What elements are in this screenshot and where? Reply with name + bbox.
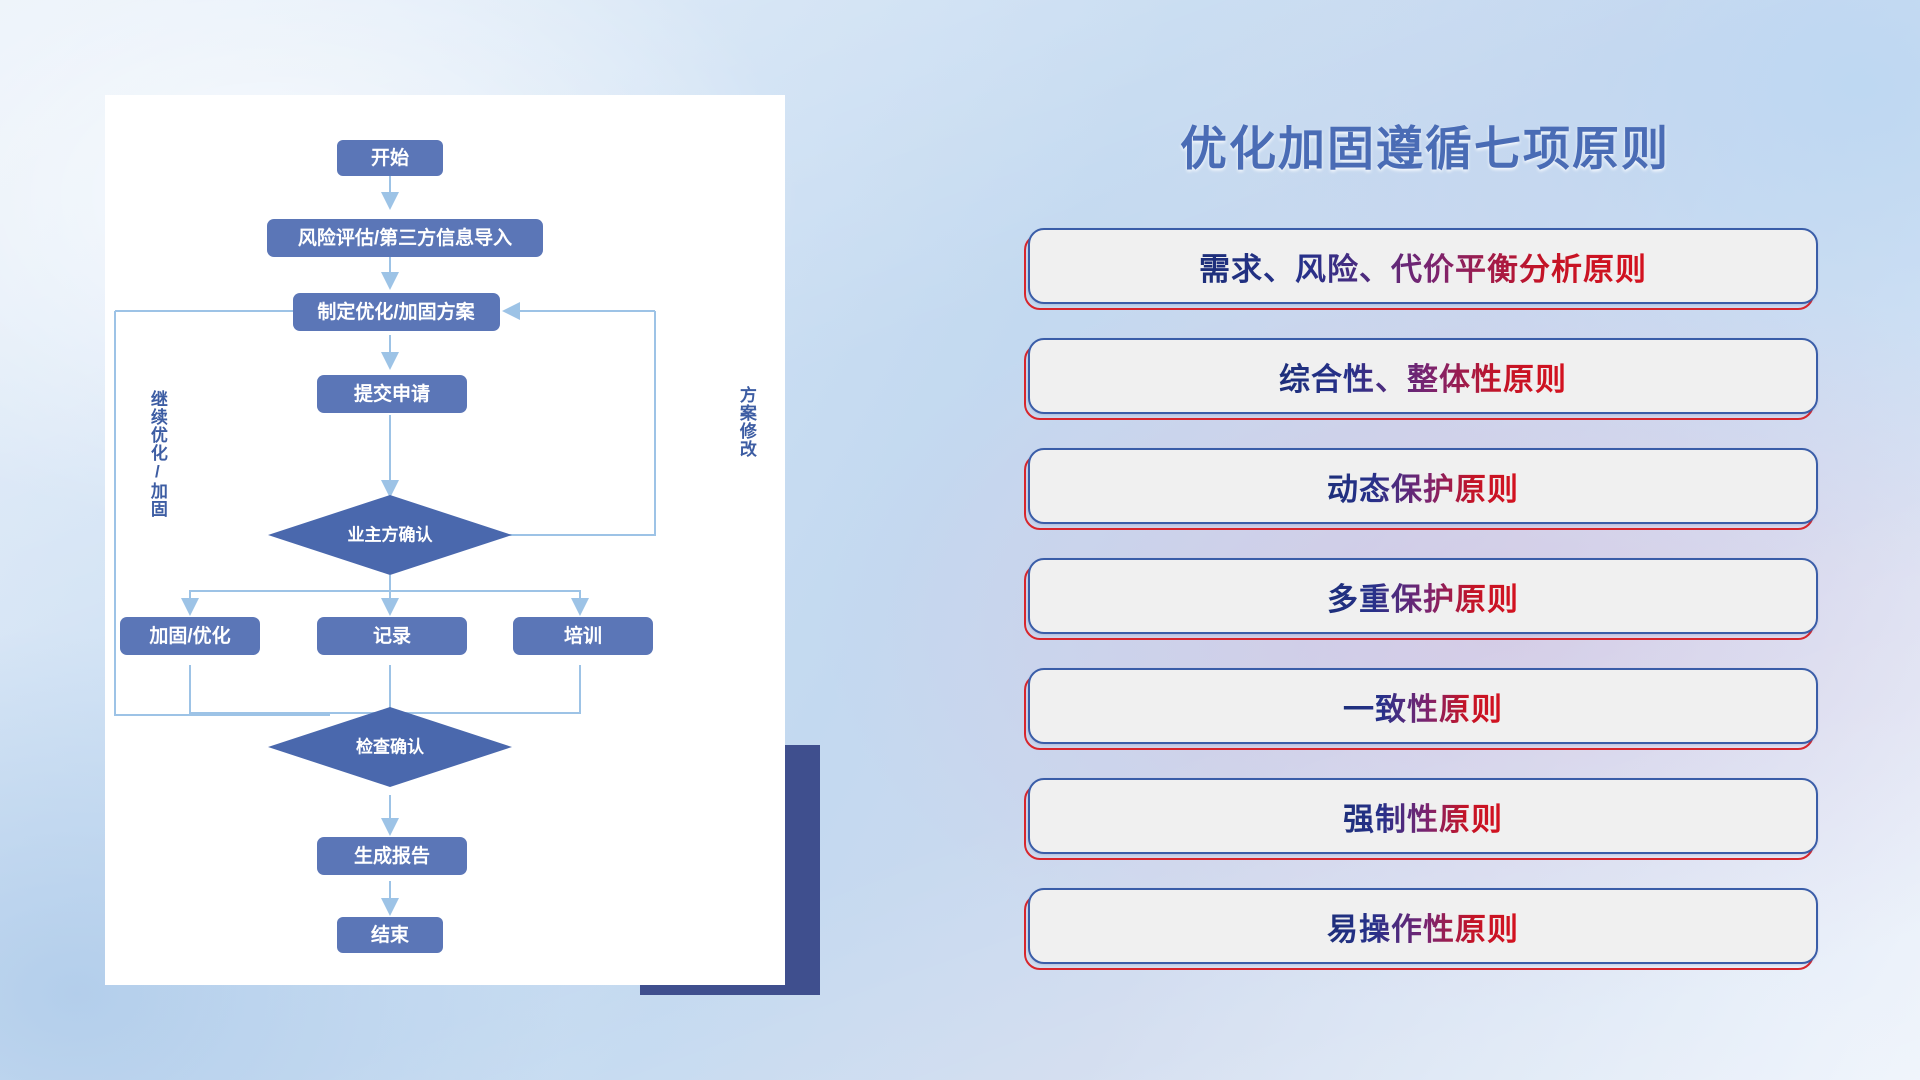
flow-node-owner-confirm[interactable]: 业主方确认 [268, 495, 512, 575]
flow-node-end[interactable]: 结束 [337, 917, 443, 953]
principle-box[interactable]: 需求、风险、代价平衡分析原则 [1028, 228, 1818, 304]
flow-node-record[interactable]: 记录 [317, 617, 467, 655]
flow-node-training[interactable]: 培训 [513, 617, 653, 655]
svg-text:生成报告: 生成报告 [354, 844, 430, 867]
principle-label: 需求、风险、代价平衡分析原则 [1199, 244, 1647, 289]
flow-node-report[interactable]: 生成报告 [317, 837, 467, 875]
svg-text:加固/优化: 加固/优化 [148, 624, 230, 647]
principles-panel: 优化加固遵循七项原则 需求、风险、代价平衡分析原则 综合性、整体性原则 动态保护… [1010, 0, 1920, 1080]
principle-label: 易操作性原则 [1327, 904, 1519, 949]
flow-node-plan[interactable]: 制定优化/加固方案 [293, 293, 500, 331]
list-item[interactable]: 强制性原则 [1024, 778, 1834, 866]
flow-node-submit[interactable]: 提交申请 [317, 375, 467, 413]
svg-text:业主方确认: 业主方确认 [348, 524, 434, 544]
principle-label: 强制性原则 [1343, 794, 1503, 839]
principle-box[interactable]: 综合性、整体性原则 [1028, 338, 1818, 414]
svg-text:制定优化/加固方案: 制定优化/加固方案 [317, 300, 475, 323]
list-item[interactable]: 需求、风险、代价平衡分析原则 [1024, 228, 1834, 316]
flow-edge-label-continue-optimize: 继续优化/加固 [148, 390, 166, 518]
principles-list: 需求、风险、代价平衡分析原则 综合性、整体性原则 动态保护原则 多重保护原则 一 [1024, 228, 1834, 998]
list-item[interactable]: 综合性、整体性原则 [1024, 338, 1834, 426]
principle-box[interactable]: 动态保护原则 [1028, 448, 1818, 524]
svg-text:培训: 培训 [564, 624, 602, 647]
page-title: 优化加固遵循七项原则 [1010, 110, 1840, 179]
flow-node-risk-assessment[interactable]: 风险评估/第三方信息导入 [267, 219, 543, 257]
flowchart-panel: 开始 风险评估/第三方信息导入 制定优化/加固方案 提交申请 业主方确认 加固/… [0, 0, 900, 1080]
principle-label: 动态保护原则 [1327, 464, 1519, 509]
svg-text:记录: 记录 [373, 625, 411, 647]
principle-label: 综合性、整体性原则 [1279, 354, 1567, 399]
list-item[interactable]: 易操作性原则 [1024, 888, 1834, 976]
svg-text:开始: 开始 [371, 146, 409, 169]
list-item[interactable]: 一致性原则 [1024, 668, 1834, 756]
principle-box[interactable]: 易操作性原则 [1028, 888, 1818, 964]
svg-text:检查确认: 检查确认 [356, 736, 425, 756]
principle-box[interactable]: 一致性原则 [1028, 668, 1818, 744]
principle-label: 多重保护原则 [1327, 574, 1519, 619]
svg-text:风险评估/第三方信息导入: 风险评估/第三方信息导入 [298, 226, 512, 249]
flowchart-diagram: 开始 风险评估/第三方信息导入 制定优化/加固方案 提交申请 业主方确认 加固/… [105, 95, 785, 985]
principle-box[interactable]: 多重保护原则 [1028, 558, 1818, 634]
flow-node-check-confirm[interactable]: 检查确认 [268, 707, 512, 787]
principle-box[interactable]: 强制性原则 [1028, 778, 1818, 854]
flow-node-reinforce[interactable]: 加固/优化 [120, 617, 260, 655]
flow-edge-label-plan-revision: 方案修改 [737, 386, 755, 458]
svg-text:结束: 结束 [371, 923, 410, 946]
list-item[interactable]: 动态保护原则 [1024, 448, 1834, 536]
flow-node-start[interactable]: 开始 [337, 140, 443, 176]
list-item[interactable]: 多重保护原则 [1024, 558, 1834, 646]
svg-text:提交申请: 提交申请 [354, 382, 430, 405]
principle-label: 一致性原则 [1343, 684, 1503, 729]
